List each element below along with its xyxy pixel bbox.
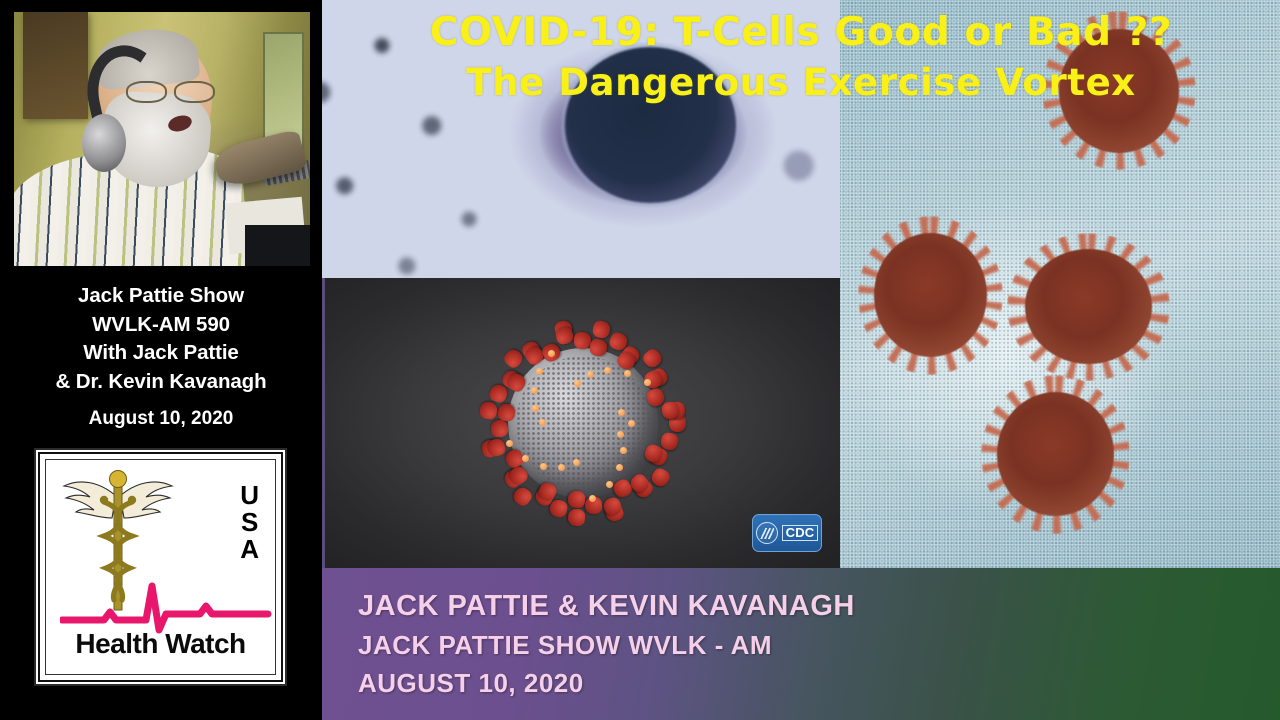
sidebar-show-info: Jack Pattie Show WVLK-AM 590 With Jack P… — [0, 282, 322, 430]
virus-membrane-protein — [539, 419, 546, 426]
panel-cdc-virus-illustration: CDC — [322, 278, 840, 568]
virus-body — [874, 233, 987, 357]
caption-show: JACK PATTIE SHOW WVLK - AM — [358, 626, 1280, 664]
virus-body — [1059, 29, 1179, 153]
lens-right — [174, 81, 215, 104]
logo-caption: Health Watch — [46, 628, 275, 660]
caption-names: JACK PATTIE & KEVIN KAVANAGH — [358, 586, 1280, 626]
lower-third-caption: JACK PATTIE & KEVIN KAVANAGH JACK PATTIE… — [322, 568, 1280, 720]
virus-body — [1025, 249, 1152, 364]
virus-spike — [568, 491, 586, 509]
wall-panel-left — [23, 12, 88, 119]
virus-membrane-protein — [618, 409, 625, 416]
virus-membrane-protein — [540, 463, 547, 470]
cdc-label: CDC — [782, 525, 819, 541]
virus-spike — [567, 509, 585, 527]
content-area: CDC JACK PATTIE & KEVIN KAVANAGH JACK PA… — [322, 0, 1280, 720]
slide-root: Jack Pattie Show WVLK-AM 590 With Jack P… — [0, 0, 1280, 720]
panel-coronavirus-micrograph-purple — [322, 0, 840, 278]
virus-membrane-protein — [548, 350, 555, 357]
virus-membrane-protein — [624, 370, 631, 377]
usa-letters: U S A — [240, 482, 259, 563]
virus-membrane-protein — [616, 464, 623, 471]
virion-particle — [565, 47, 736, 203]
show-title-line-2: WVLK-AM 590 — [0, 311, 322, 340]
virus-spike — [640, 346, 664, 370]
virus-membrane-protein — [620, 447, 627, 454]
virus-body — [997, 392, 1114, 516]
usa-letter-u: U — [240, 482, 259, 509]
logo-inner-frame: U S A Health Watch — [45, 459, 276, 675]
left-sidebar: Jack Pattie Show WVLK-AM 590 With Jack P… — [0, 0, 322, 720]
coronavirus-particle — [1007, 233, 1170, 381]
virus-spike — [497, 403, 516, 422]
caption-date: AUGUST 10, 2020 — [358, 664, 1280, 702]
virus-spike — [510, 485, 534, 509]
sars-cov-2-model — [468, 308, 698, 538]
health-watch-logo: U S A Health Watch — [38, 452, 283, 682]
usa-letter-a: A — [240, 536, 259, 563]
virus-spike — [491, 419, 509, 437]
cdc-badge: CDC — [752, 514, 822, 552]
show-title-line-1: Jack Pattie Show — [0, 282, 322, 311]
virus-spike — [479, 400, 498, 419]
panel-coronavirus-micrograph-blue — [840, 0, 1280, 568]
virus-membrane-protein — [558, 464, 565, 471]
show-title-line-3: With Jack Pattie — [0, 339, 322, 368]
coronavirus-particle — [858, 216, 1003, 375]
show-title-line-4: & Dr. Kevin Kavanagh — [0, 368, 322, 397]
virus-spike — [592, 320, 612, 340]
studio-monitor — [245, 225, 310, 266]
virus-membrane-protein — [522, 455, 529, 462]
virus-membrane-protein — [617, 431, 624, 438]
coronavirus-particle — [1042, 11, 1196, 170]
coronavirus-particle — [981, 375, 1131, 534]
show-date: August 10, 2020 — [0, 408, 322, 430]
hhs-seal-icon — [756, 522, 778, 544]
virus-membrane-protein — [532, 405, 539, 412]
usa-letter-s: S — [240, 509, 259, 536]
host-photo — [14, 12, 310, 266]
virus-spike — [574, 331, 591, 348]
